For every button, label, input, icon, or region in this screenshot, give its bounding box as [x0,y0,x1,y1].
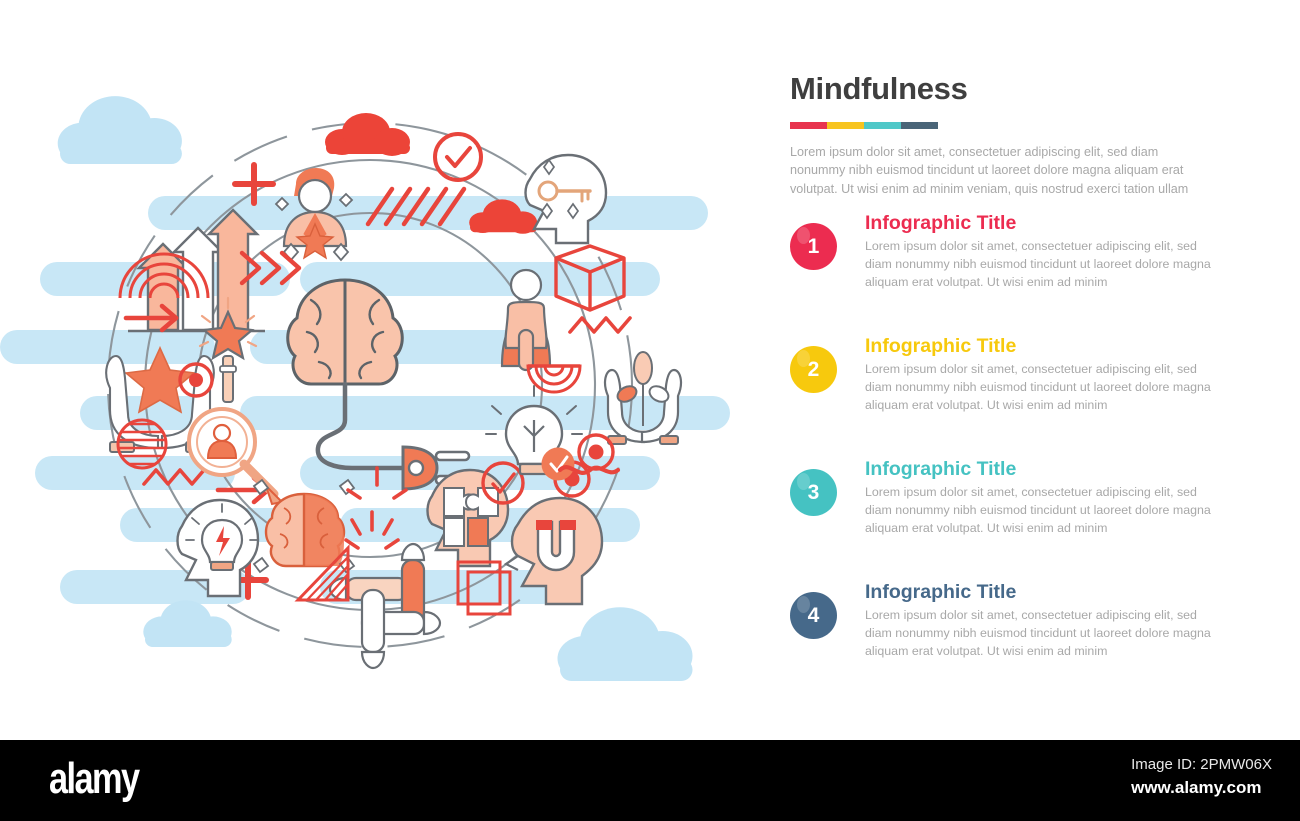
item-text: Lorem ipsum dolor sit amet, consectetuer… [865,238,1217,291]
fan-arc-icon [528,366,580,392]
list-item[interactable]: 4 Infographic Title Lorem ipsum dolor si… [790,581,1220,677]
item-text: Lorem ipsum dolor sit amet, consectetuer… [865,361,1217,414]
item-body: Infographic Title Lorem ipsum dolor sit … [865,581,1217,660]
mindfulness-illustration [0,0,760,740]
list-item[interactable]: 1 Infographic Title Lorem ipsum dolor si… [790,212,1220,308]
page-title: Mindfulness [790,72,1220,106]
status-badge: 3 [790,469,837,516]
zigzag-icon [570,318,630,332]
item-title: Infographic Title [865,458,1217,480]
watermark-info: Image ID: 2PMW06X www.alamy.com [1131,756,1272,798]
list-item[interactable]: 2 Infographic Title Lorem ipsum dolor si… [790,335,1220,431]
accent-bar [790,122,938,129]
item-text: Lorem ipsum dolor sit amet, consectetuer… [865,607,1217,660]
hands-with-flower-icon [605,352,681,444]
watermark-bar: alamy Image ID: 2PMW06X www.alamy.com [0,740,1300,821]
website-url: www.alamy.com [1131,778,1272,798]
item-title: Infographic Title [865,212,1217,234]
head-with-puzzle-icon [428,470,509,566]
item-body: Infographic Title Lorem ipsum dolor sit … [865,335,1217,414]
accent-segment-1 [790,122,827,129]
check-circle-icon [435,134,481,180]
image-id-label: Image ID: 2PMW06X [1131,756,1272,773]
list-item[interactable]: 3 Infographic Title Lorem ipsum dolor si… [790,458,1220,554]
status-badge: 2 [790,346,837,393]
item-body: Infographic Title Lorem ipsum dolor sit … [865,458,1217,537]
item-title: Infographic Title [865,581,1217,603]
item-body: Infographic Title Lorem ipsum dolor sit … [865,212,1217,291]
accent-segment-4 [901,122,938,129]
status-badge: 1 [790,223,837,270]
infographic-slide: Mindfulness Lorem ipsum dolor sit amet, … [0,0,1300,821]
content-panel: Mindfulness Lorem ipsum dolor sit amet, … [790,72,1220,198]
intro-paragraph: Lorem ipsum dolor sit amet, consectetuer… [790,143,1214,198]
accent-segment-2 [827,122,864,129]
accent-segment-3 [864,122,901,129]
item-text: Lorem ipsum dolor sit amet, consectetuer… [865,484,1217,537]
status-badge: 4 [790,592,837,639]
item-title: Infographic Title [865,335,1217,357]
alamy-logo: alamy [49,754,139,804]
